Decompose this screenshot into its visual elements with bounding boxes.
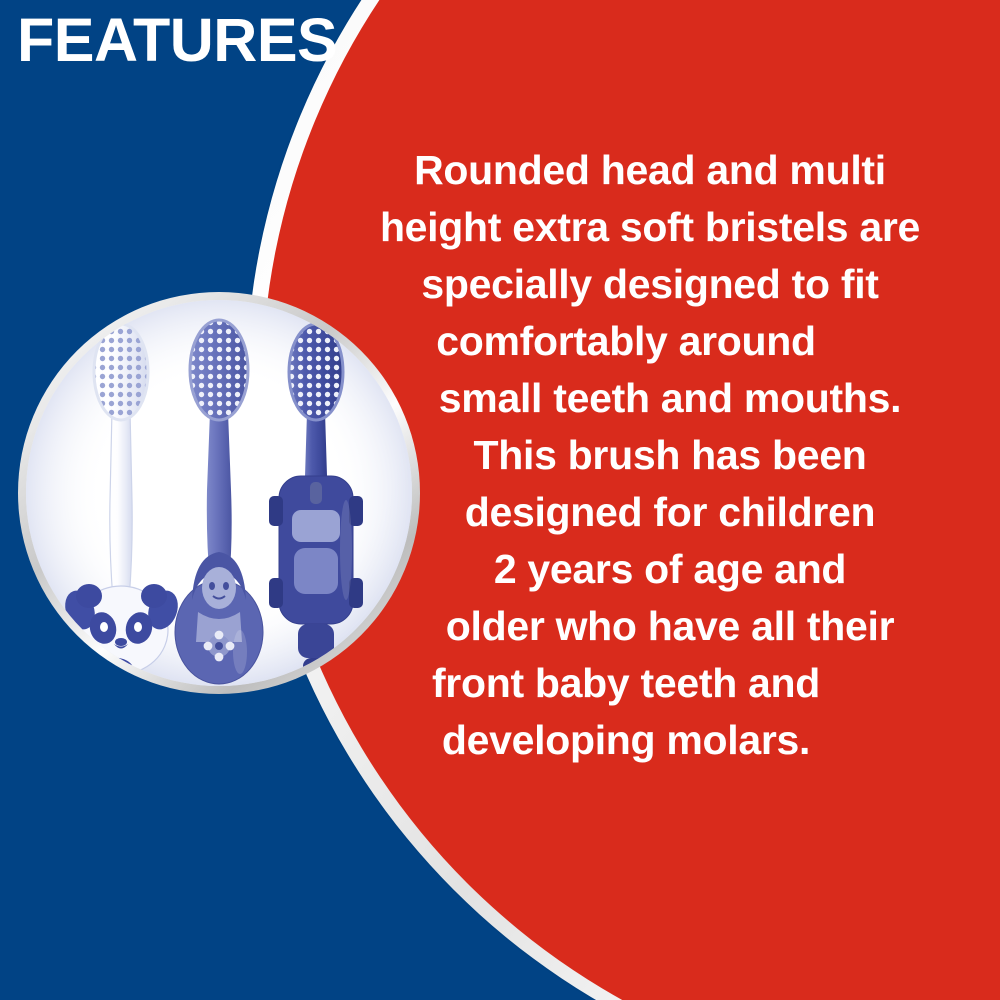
copy-line: specially designed to fit — [300, 256, 1000, 313]
copy-line: developing molars. — [300, 712, 1000, 769]
feature-banner: FEATURES Rounded head and multi height e… — [0, 0, 1000, 1000]
copy-line: Rounded head and multi — [300, 142, 1000, 199]
toothbrush-illustration — [26, 300, 412, 686]
copy-line: older who have all their — [300, 598, 1000, 655]
copy-line: height extra soft bristels are — [300, 199, 1000, 256]
copy-line: front baby teeth and — [300, 655, 1000, 712]
product-image-circle — [26, 300, 412, 686]
copy-line: comfortably around — [300, 313, 1000, 370]
page-title: FEATURES — [17, 8, 337, 72]
